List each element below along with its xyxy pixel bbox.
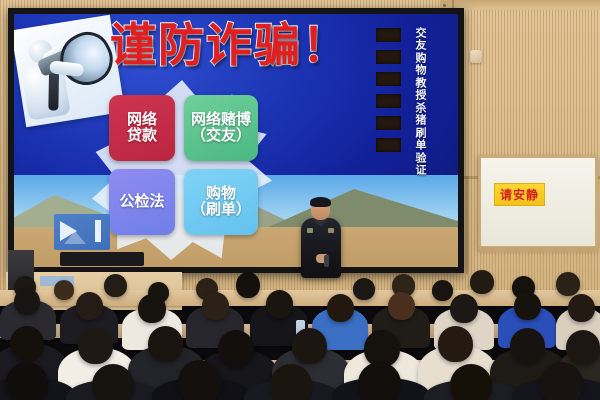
slide-box-shopping-line2: （刷单） <box>191 202 251 218</box>
audience-head <box>327 294 354 322</box>
audience-head <box>104 274 127 297</box>
presentation-screen[interactable]: 谨防诈骗！ 网络 贷款 网络赌博 （交友） 公检法 购物 （刷单） <box>14 14 458 267</box>
audience-head <box>470 270 494 294</box>
audience-head <box>510 328 545 364</box>
audience-head <box>432 280 453 301</box>
door-knob[interactable] <box>470 50 482 63</box>
audience-head <box>10 326 44 361</box>
side-label-jiaoshou: 教授 <box>412 77 428 101</box>
audience-head <box>450 294 478 323</box>
quiet-sign: 请安静 <box>494 183 545 206</box>
bullet-square <box>376 72 401 86</box>
audience-head <box>270 364 312 400</box>
audience-head <box>218 330 254 367</box>
whiteboard-tray <box>478 247 598 252</box>
audience-head <box>202 292 229 320</box>
side-label-yanzheng: 验证 <box>412 152 428 176</box>
audience-head <box>148 326 183 362</box>
audience-head <box>178 360 222 400</box>
audience-head <box>14 288 40 315</box>
officer-hair <box>310 197 331 207</box>
audience-head <box>556 272 580 296</box>
slide-box-shopping[interactable]: 购物 （刷单） <box>184 169 258 235</box>
slide-side-column-primary: 交友 购物 教授 杀猪 刷单 验证 <box>412 27 428 177</box>
side-label-jiaoyou: 交友 <box>412 27 428 51</box>
slide-box-online-gambling-line1: 网络赌博 <box>191 112 251 128</box>
bullet-square <box>376 138 401 152</box>
bullet-square <box>376 50 401 64</box>
audience-head <box>54 280 74 300</box>
officer-badge-right <box>328 228 334 233</box>
side-label-shuadan: 刷单 <box>412 127 428 151</box>
slide-box-online-loan-line1: 网络 <box>127 112 157 128</box>
megaphone-handle <box>48 68 59 110</box>
officer-badge-left <box>307 228 313 233</box>
ceiling-strip <box>440 0 600 9</box>
audience-head <box>514 292 541 320</box>
audience-head <box>438 326 473 362</box>
slide-box-public-security-line1: 公检法 <box>119 194 164 210</box>
audience-head <box>450 364 492 400</box>
audience-head <box>540 362 583 400</box>
audience-head <box>568 294 595 322</box>
audience-head <box>138 294 166 323</box>
slide-box-online-gambling[interactable]: 网络赌博 （交友） <box>184 95 258 161</box>
audience-head <box>388 292 415 320</box>
slide-box-online-loan[interactable]: 网络 贷款 <box>109 95 175 161</box>
audience-head <box>6 362 48 400</box>
slide-video-thumbnail <box>54 214 110 250</box>
side-label-shazhu: 杀猪 <box>412 102 428 126</box>
bullet-square <box>376 94 401 108</box>
slide-mountain-right <box>264 189 458 229</box>
audience-head <box>266 290 293 318</box>
scene-root: 请安静 谨防诈骗！ <box>0 0 600 400</box>
audience-head <box>76 292 103 320</box>
audience-head <box>358 362 401 400</box>
slide-title: 谨防诈骗！ <box>110 22 350 68</box>
wall-screw-dot <box>443 4 446 7</box>
audience-head <box>292 328 327 364</box>
side-label-gouwu: 购物 <box>412 52 428 76</box>
audience-head <box>92 364 134 400</box>
audience-head <box>236 272 260 298</box>
audience-head <box>78 328 113 364</box>
slide-box-online-loan-line2: 贷款 <box>127 128 157 144</box>
bullet-square <box>376 28 401 42</box>
slide-box-shopping-line1: 购物 <box>206 186 236 202</box>
audience-head <box>353 278 375 300</box>
slide-thumbnail-bar <box>95 220 101 242</box>
audience <box>0 262 600 400</box>
slide-box-public-security[interactable]: 公检法 <box>109 169 175 235</box>
audience-head <box>566 330 600 365</box>
slide-bullet-squares <box>376 28 404 160</box>
presentation-screen-frame: 谨防诈骗！ 网络 贷款 网络赌博 （交友） 公检法 购物 （刷单） <box>8 8 464 273</box>
bullet-square <box>376 116 401 130</box>
slide-box-online-gambling-line2: （交友） <box>191 128 251 144</box>
